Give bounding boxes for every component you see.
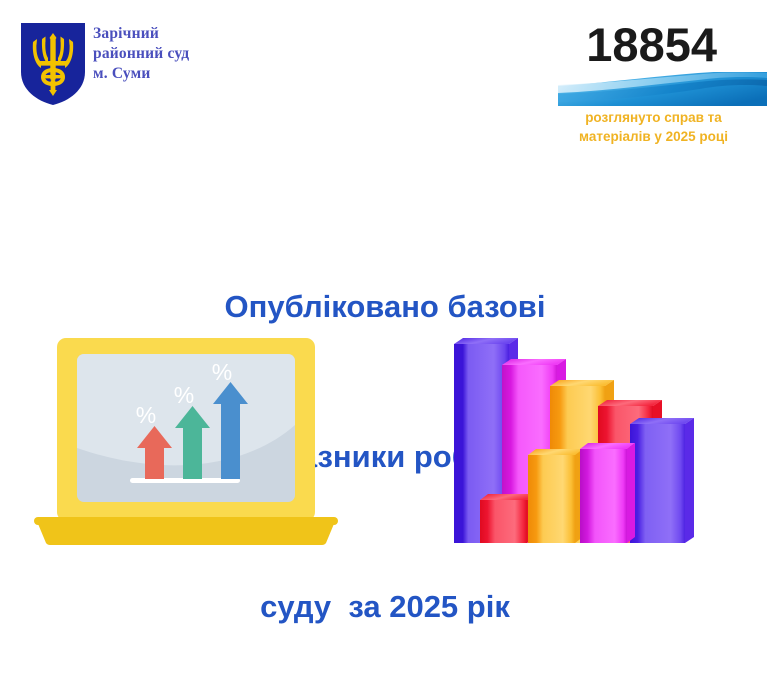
blue-wave-graphic-icon bbox=[558, 72, 767, 106]
court-name-line-3: м. Суми bbox=[93, 64, 293, 84]
statistic-caption-line-1: розглянуто справ та bbox=[540, 108, 767, 127]
statistic-number: 18854 bbox=[586, 20, 717, 70]
court-logo-block: Зарічний районний суд м. Суми bbox=[0, 0, 300, 130]
percent-label-green: % bbox=[174, 382, 194, 408]
statistic-block: 18854 bbox=[540, 12, 767, 142]
ukraine-trident-emblem-icon bbox=[20, 22, 86, 106]
percent-label-red: % bbox=[136, 402, 156, 428]
statistic-caption: розглянуто справ та матеріалів у 2025 ро… bbox=[540, 108, 767, 146]
bar-6 bbox=[630, 418, 694, 543]
court-name-line-2: районний суд bbox=[93, 44, 293, 64]
bar-chart-illustration bbox=[430, 330, 767, 575]
statistic-caption-line-2: матеріалів у 2025 році bbox=[540, 127, 767, 146]
court-name: Зарічний районний суд м. Суми bbox=[93, 24, 293, 84]
bar-front-yellow bbox=[528, 449, 583, 543]
percent-label-blue: % bbox=[212, 359, 232, 385]
bar-front-red bbox=[480, 494, 535, 543]
page-title-line-1: Опубліковано базові bbox=[120, 282, 650, 332]
laptop-growth-chart-illustration-icon: % % % bbox=[20, 330, 360, 575]
bar-front-magenta bbox=[580, 443, 635, 543]
page-title-line-3: суду за 2025 рік bbox=[120, 582, 650, 632]
court-name-line-1: Зарічний bbox=[93, 24, 293, 44]
